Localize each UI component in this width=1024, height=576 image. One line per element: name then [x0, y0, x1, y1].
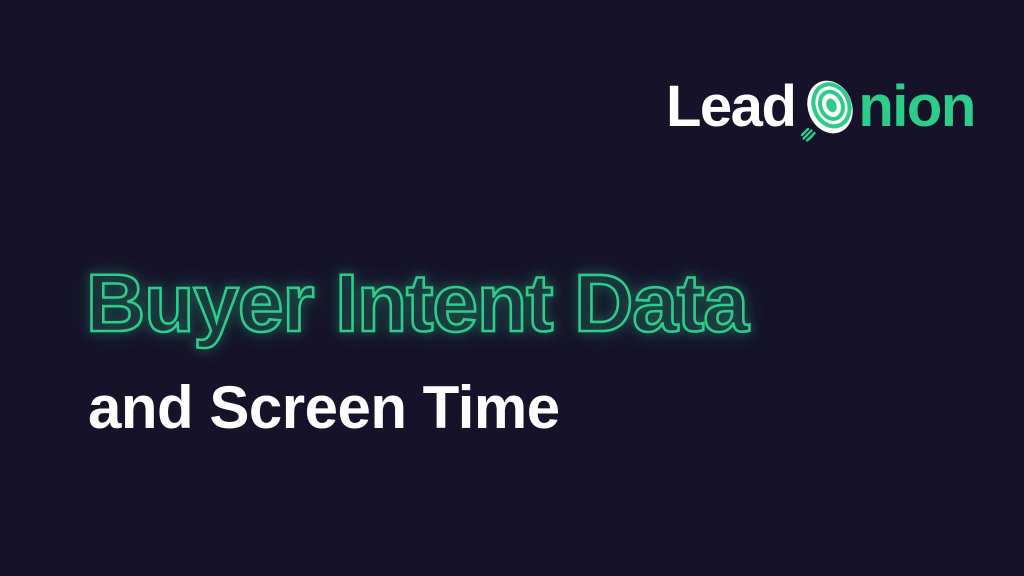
- title-slide: Lead nion: [0, 0, 1024, 576]
- onion-icon: [799, 74, 861, 144]
- brand-logo: Lead nion: [666, 70, 975, 144]
- page-title: Buyer Intent Data: [86, 261, 748, 347]
- page-subtitle: and Screen Time: [88, 376, 560, 439]
- logo-word-lead: Lead: [666, 78, 795, 136]
- logo-word-nion: nion: [858, 78, 974, 136]
